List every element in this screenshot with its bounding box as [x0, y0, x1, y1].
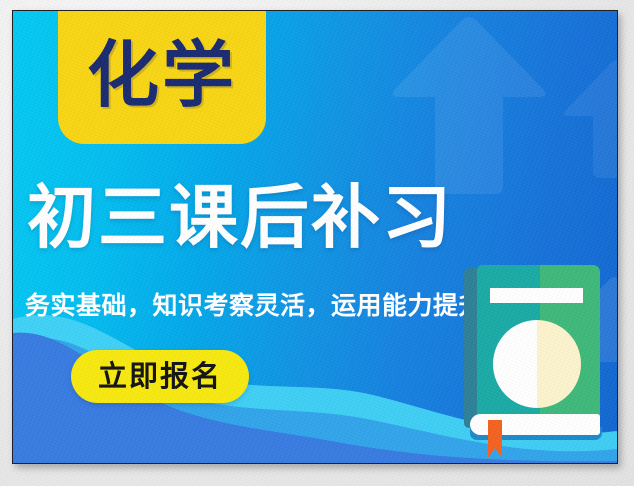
- enroll-now-label: 立即报名: [98, 362, 222, 391]
- page-backdrop: 化学 初三课后补习 务实基础，知识考察灵活，运用能力提升 立即报名: [0, 0, 634, 486]
- arrow-up-large-icon: [393, 17, 546, 194]
- book-title-band-icon: [490, 288, 583, 303]
- headline: 初三课后补习: [27, 184, 527, 253]
- subtitle: 务实基础，知识考察灵活，运用能力提升: [25, 293, 495, 318]
- subject-badge: 化学: [58, 11, 266, 144]
- arrow-up-medium-icon: [564, 60, 617, 178]
- enroll-now-button[interactable]: 立即报名: [71, 350, 249, 403]
- course-promo-banner: 化学 初三课后补习 务实基础，知识考察灵活，运用能力提升 立即报名: [12, 10, 618, 464]
- subject-badge-label: 化学: [87, 39, 237, 117]
- textbook-illustration: [464, 262, 606, 440]
